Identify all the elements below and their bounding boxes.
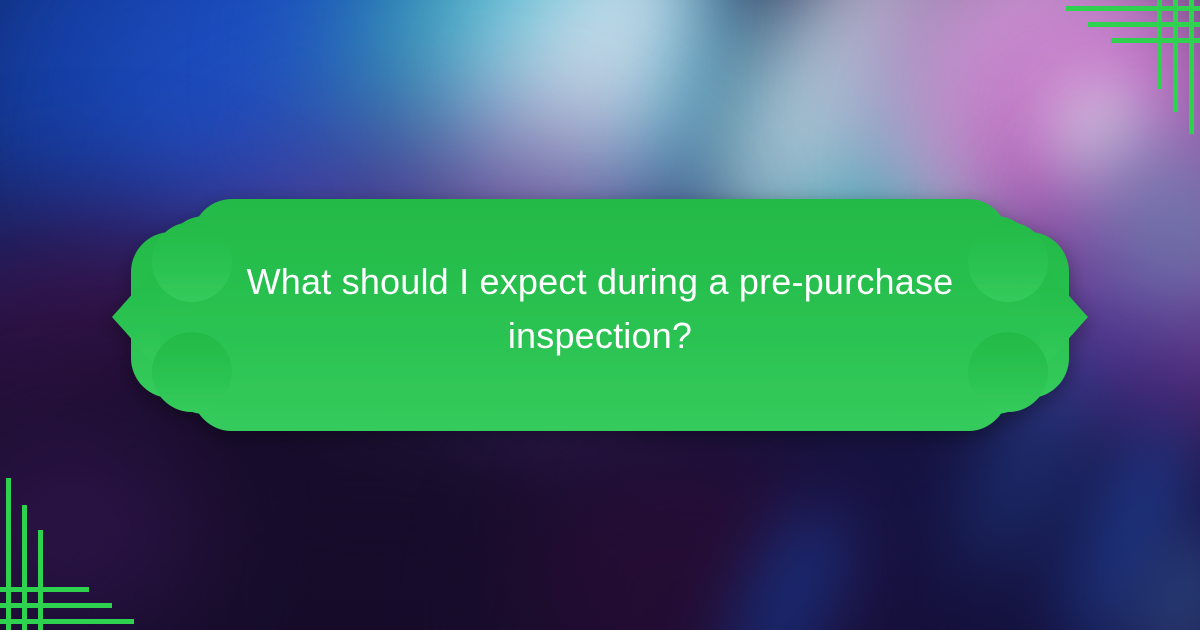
corner-frame-line-v2 (1173, 0, 1178, 112)
corner-frame-line-v3 (1157, 0, 1162, 89)
corner-frame-line-v6 (38, 530, 43, 630)
corner-frame-line-h1 (1066, 6, 1200, 11)
corner-frame-line-v4 (6, 478, 11, 630)
corner-frame-line-h6 (0, 587, 89, 592)
social-card: What should I expect during a pre-purcha… (0, 0, 1200, 630)
corner-frame-line-h3 (1111, 38, 1200, 43)
question-text: What should I expect during a pre-purcha… (200, 255, 1000, 363)
corner-frame-line-h5 (0, 603, 112, 608)
corner-frame-line-v1 (1189, 0, 1194, 134)
corner-frame-line-h2 (1088, 22, 1200, 27)
corner-frame-line-h4 (0, 619, 134, 624)
corner-frame-line-v5 (22, 505, 27, 630)
